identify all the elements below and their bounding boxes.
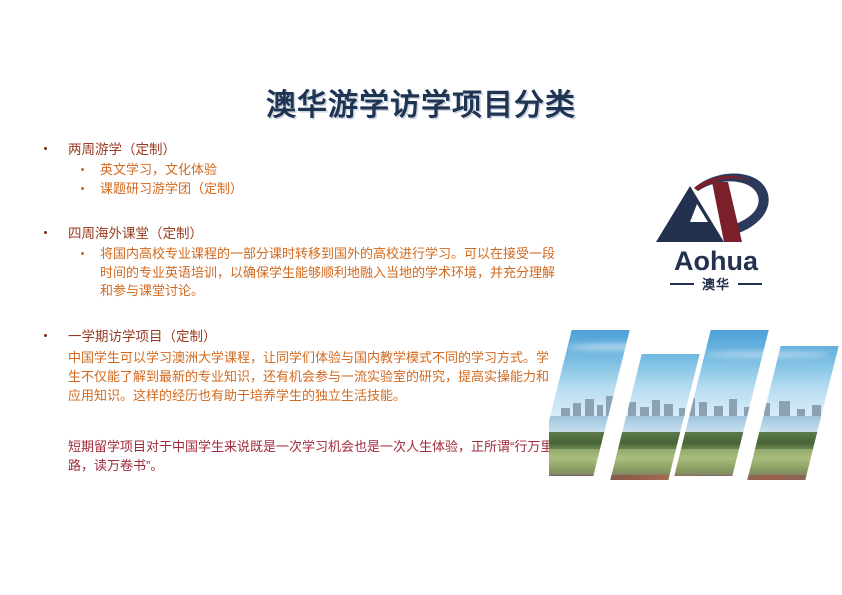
section-four-week-overseas-classroom: 四周海外课堂（定制） 将国内高校专业课程的一部分课时转移到国外的高校进行学习。可…	[38, 224, 558, 301]
photo-skyline-layer	[743, 396, 838, 417]
aohua-wordmark: Aohua	[636, 246, 796, 276]
cloud-shape	[567, 344, 631, 350]
section-two-week-study-tour: 两周游学（定制） 英文学习，文化体验 课题研习游学团（定制）	[38, 140, 558, 198]
bullet-dot-icon	[44, 147, 47, 150]
photo-rooftops-layer	[743, 475, 838, 480]
closing-paragraph: 短期留学项目对于中国学生来说既是一次学习机会也是一次人生体验，正所谓“行万里路，…	[38, 437, 558, 475]
content-column: 两周游学（定制） 英文学习，文化体验 课题研习游学团（定制） 四周海外课堂（定制…	[38, 140, 558, 475]
section-paragraph: 中国学生可以学习澳洲大学课程，让同学们体验与国内教学模式不同的学习方式。学生不仅…	[38, 348, 558, 405]
sub-bullet-label: 课题研习游学团（定制）	[100, 181, 243, 196]
photo-skyline-layer	[549, 396, 631, 417]
sub-bullet-item: 英文学习，文化体验	[38, 161, 558, 180]
bullet-dot-icon	[81, 187, 84, 190]
aohua-chinese-name: 澳华	[702, 274, 730, 293]
bullet-dot-icon	[44, 334, 47, 337]
rule-right	[738, 283, 762, 285]
aohua-logo: Aohua 澳华	[636, 160, 796, 300]
section-heading-label: 一学期访学项目（定制）	[68, 329, 217, 344]
photo-ground-layer	[743, 449, 838, 481]
section-heading-label: 两周游学（定制）	[68, 142, 176, 157]
section-heading: 两周游学（定制）	[38, 140, 558, 159]
sub-bullet-item: 课题研习游学团（定制）	[38, 180, 558, 199]
slide-canvas: 澳华游学访学项目分类 两周游学（定制） 英文学习，文化体验 课题研习游学团（定制…	[0, 0, 842, 595]
aohua-chinese-name-row: 澳华	[636, 274, 796, 293]
rule-left	[670, 283, 694, 285]
sub-bullet-item: 将国内高校专业课程的一部分课时转移到国外的高校进行学习。可以在接受一段时间的专业…	[38, 245, 558, 301]
photo-collage	[548, 330, 838, 470]
page-title: 澳华游学访学项目分类	[0, 80, 842, 124]
bullet-dot-icon	[44, 231, 47, 234]
photo-skyline-layer	[604, 396, 699, 417]
sub-bullet-label: 英文学习，文化体验	[100, 162, 217, 177]
cloud-shape	[705, 352, 770, 357]
photo-trees-layer	[743, 432, 838, 450]
section-heading: 四周海外课堂（定制）	[38, 224, 558, 243]
photo-skyline-layer	[674, 396, 769, 417]
aohua-logo-mark-icon	[650, 160, 780, 252]
section-heading: 一学期访学项目（定制）	[38, 327, 558, 346]
closing-spacer	[38, 407, 558, 437]
section-heading-label: 四周海外课堂（定制）	[68, 226, 203, 241]
section-spacer	[38, 303, 558, 327]
sub-bullet-label: 将国内高校专业课程的一部分课时转移到国外的高校进行学习。可以在接受一段时间的专业…	[100, 246, 555, 298]
section-spacer	[38, 200, 558, 224]
bullet-dot-icon	[81, 168, 84, 171]
bullet-dot-icon	[81, 252, 84, 255]
section-one-semester-visiting-program: 一学期访学项目（定制） 中国学生可以学习澳洲大学课程，让同学们体验与国内教学模式…	[38, 327, 558, 405]
